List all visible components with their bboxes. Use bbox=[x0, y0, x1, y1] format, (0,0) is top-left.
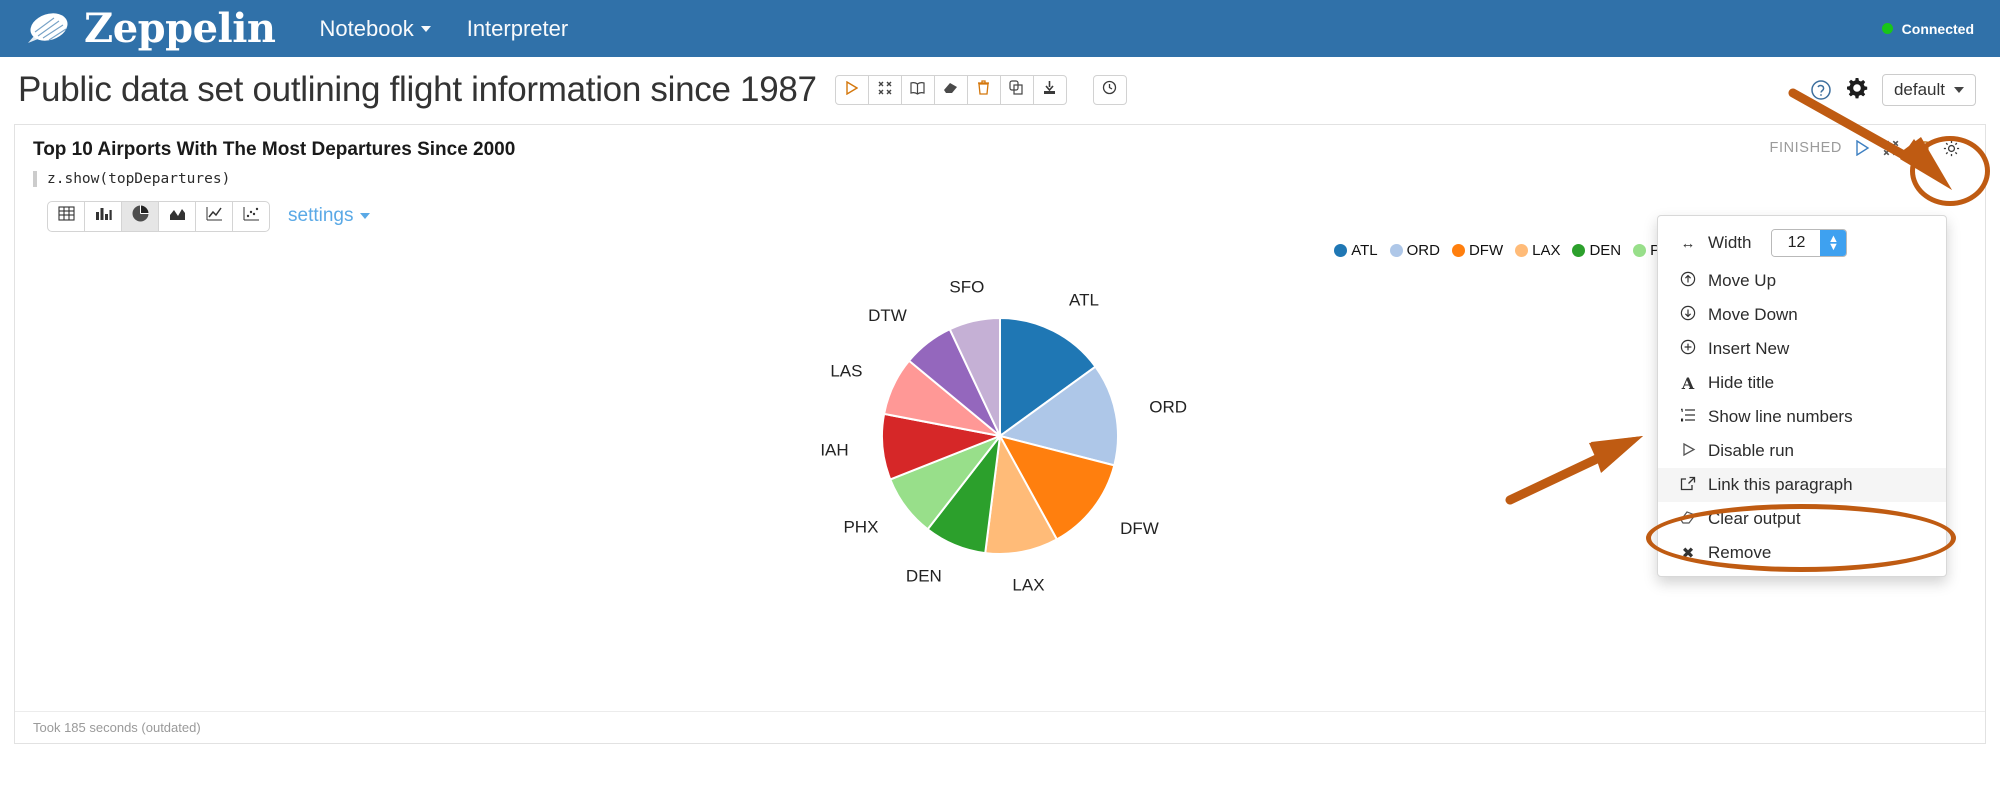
pie-label-las: LAS bbox=[830, 361, 862, 380]
menu-item-link-this-paragraph[interactable]: Link this paragraph bbox=[1658, 468, 1946, 502]
pie-label-atl: ATL bbox=[1069, 290, 1099, 309]
menu-item-label: Insert New bbox=[1708, 339, 1789, 359]
menu-item-label: Move Down bbox=[1708, 305, 1798, 325]
width-arrows-icon: ↔ bbox=[1678, 235, 1698, 252]
viz-button-group bbox=[47, 201, 270, 232]
code-editor-line[interactable]: z.show(topDepartures) bbox=[33, 171, 1985, 187]
circle-plus-icon bbox=[1678, 339, 1698, 359]
menu-item-label: Remove bbox=[1708, 543, 1771, 563]
menu-item-insert-new[interactable]: Insert New bbox=[1658, 332, 1946, 366]
show-code-button[interactable] bbox=[901, 75, 935, 105]
table-icon bbox=[58, 206, 75, 226]
brand-logo[interactable]: Zeppelin bbox=[26, 9, 276, 49]
download-icon bbox=[1042, 81, 1057, 100]
viz-line[interactable] bbox=[195, 201, 233, 232]
width-stepper[interactable]: 12 ▲▼ bbox=[1771, 229, 1847, 257]
paragraph-title[interactable]: Top 10 Airports With The Most Departures… bbox=[33, 139, 515, 161]
chevron-down-icon bbox=[421, 26, 431, 32]
context-menu-items: Move UpMove DownInsert NewAHide titleSho… bbox=[1658, 264, 1946, 570]
connection-status[interactable]: Connected bbox=[1882, 21, 1974, 37]
width-spinner-icon[interactable]: ▲▼ bbox=[1820, 230, 1846, 256]
question-circle-icon[interactable] bbox=[1810, 79, 1832, 101]
pie-chart-icon bbox=[132, 205, 149, 227]
menu-item-width-label: Width bbox=[1708, 233, 1751, 253]
note-toolbar bbox=[835, 75, 1067, 105]
paragraph-menu-button[interactable] bbox=[1942, 139, 1961, 158]
collapse-all-button[interactable] bbox=[868, 75, 902, 105]
numbered-list-icon bbox=[1678, 408, 1698, 426]
top-navbar: Zeppelin Notebook Interpreter Connected bbox=[0, 0, 2000, 57]
menu-item-move-up[interactable]: Move Up bbox=[1658, 264, 1946, 298]
close-x-icon: ✖ bbox=[1678, 544, 1698, 562]
circle-down-arrow-icon bbox=[1678, 305, 1698, 325]
delete-note-button[interactable] bbox=[967, 75, 1001, 105]
status-badge: FINISHED bbox=[1770, 140, 1842, 156]
pie-label-lax: LAX bbox=[1012, 575, 1044, 594]
pie-label-phx: PHX bbox=[843, 517, 878, 536]
copy-icon bbox=[1009, 80, 1024, 100]
menu-item-move-down[interactable]: Move Down bbox=[1658, 298, 1946, 332]
interpreter-binding-label: default bbox=[1894, 80, 1945, 100]
clear-output-button[interactable] bbox=[934, 75, 968, 105]
menu-item-width[interactable]: ↔ Width 12 ▲▼ bbox=[1658, 222, 1946, 264]
pie-label-iah: IAH bbox=[820, 440, 848, 459]
circle-up-arrow-icon bbox=[1678, 271, 1698, 291]
pie-label-den: DEN bbox=[906, 566, 942, 585]
viz-scatter[interactable] bbox=[232, 201, 270, 232]
play-outline-icon bbox=[1678, 442, 1698, 461]
pie-chart-svg[interactable]: ATLORDDFWLAXDENPHXIAHLASDTWSFO bbox=[690, 254, 1310, 614]
menu-item-label: Move Up bbox=[1708, 271, 1776, 291]
pie-label-dtw: DTW bbox=[868, 305, 907, 324]
nav-links: Notebook Interpreter bbox=[320, 16, 569, 42]
book-icon bbox=[910, 81, 925, 100]
menu-item-show-line-numbers[interactable]: Show line numbers bbox=[1658, 400, 1946, 434]
note-header-right: default bbox=[1810, 74, 1976, 106]
viz-table[interactable] bbox=[47, 201, 85, 232]
nav-item-interpreter-label: Interpreter bbox=[467, 16, 569, 42]
trash-icon bbox=[977, 80, 990, 100]
interpreter-binding-select[interactable]: default bbox=[1882, 74, 1976, 106]
connection-dot-icon bbox=[1882, 23, 1893, 34]
menu-item-label: Clear output bbox=[1708, 509, 1801, 529]
eraser-icon bbox=[1678, 510, 1698, 528]
chevron-down-icon bbox=[1954, 87, 1964, 93]
clone-note-button[interactable] bbox=[1000, 75, 1034, 105]
nav-item-notebook-label: Notebook bbox=[320, 16, 414, 42]
paragraph-status-bar: FINISHED bbox=[1770, 139, 1971, 158]
collapse-arrows-icon bbox=[878, 81, 892, 100]
pie-label-sfo: SFO bbox=[949, 277, 984, 296]
scatter-chart-icon bbox=[243, 206, 260, 226]
pie-label-dfw: DFW bbox=[1120, 519, 1159, 538]
letter-a-icon: A bbox=[1678, 374, 1698, 393]
gear-icon[interactable] bbox=[1846, 77, 1868, 104]
menu-item-label: Show line numbers bbox=[1708, 407, 1853, 427]
line-chart-icon bbox=[206, 206, 223, 226]
menu-item-clear-output[interactable]: Clear output bbox=[1658, 502, 1946, 536]
run-paragraph-button[interactable] bbox=[1855, 140, 1870, 156]
brand-name: Zeppelin bbox=[84, 9, 276, 49]
paragraph-footer: Took 185 seconds (outdated) bbox=[15, 711, 1985, 743]
connection-status-label: Connected bbox=[1902, 21, 1974, 37]
zeppelin-logo-icon bbox=[26, 12, 72, 46]
external-link-icon bbox=[1678, 476, 1698, 495]
clock-icon bbox=[1102, 80, 1117, 100]
width-value[interactable]: 12 bbox=[1772, 230, 1820, 256]
viz-pie[interactable] bbox=[121, 201, 159, 232]
schedule-button[interactable] bbox=[1093, 75, 1127, 105]
menu-item-label: Hide title bbox=[1708, 373, 1774, 393]
settings-toggle[interactable]: settings bbox=[288, 205, 370, 227]
export-note-button[interactable] bbox=[1033, 75, 1067, 105]
area-chart-icon bbox=[169, 206, 186, 226]
page-title[interactable]: Public data set outlining flight informa… bbox=[18, 71, 817, 110]
menu-item-remove[interactable]: ✖Remove bbox=[1658, 536, 1946, 570]
menu-item-disable-run[interactable]: Disable run bbox=[1658, 434, 1946, 468]
viz-area[interactable] bbox=[158, 201, 196, 232]
run-all-button[interactable] bbox=[835, 75, 869, 105]
menu-item-label: Disable run bbox=[1708, 441, 1794, 461]
chevron-down-icon bbox=[360, 213, 370, 219]
nav-item-interpreter[interactable]: Interpreter bbox=[467, 16, 569, 42]
note-header: Public data set outlining flight informa… bbox=[0, 57, 2000, 118]
run-play-icon bbox=[845, 81, 858, 100]
toggle-editor-button[interactable] bbox=[1912, 140, 1929, 156]
eraser-icon bbox=[943, 81, 958, 99]
nav-item-notebook[interactable]: Notebook bbox=[320, 16, 431, 42]
menu-item-hide-title[interactable]: AHide title bbox=[1658, 366, 1946, 400]
viz-bar[interactable] bbox=[84, 201, 122, 232]
settings-label: settings bbox=[288, 205, 353, 227]
pie-label-ord: ORD bbox=[1149, 397, 1187, 416]
paragraph-header: Top 10 Airports With The Most Departures… bbox=[15, 125, 1985, 161]
paragraph-context-menu: ↔ Width 12 ▲▼ Move UpMove DownInsert New… bbox=[1657, 215, 1947, 577]
bar-chart-icon bbox=[95, 206, 112, 226]
menu-item-label: Link this paragraph bbox=[1708, 475, 1853, 495]
collapse-paragraph-button[interactable] bbox=[1883, 140, 1899, 156]
